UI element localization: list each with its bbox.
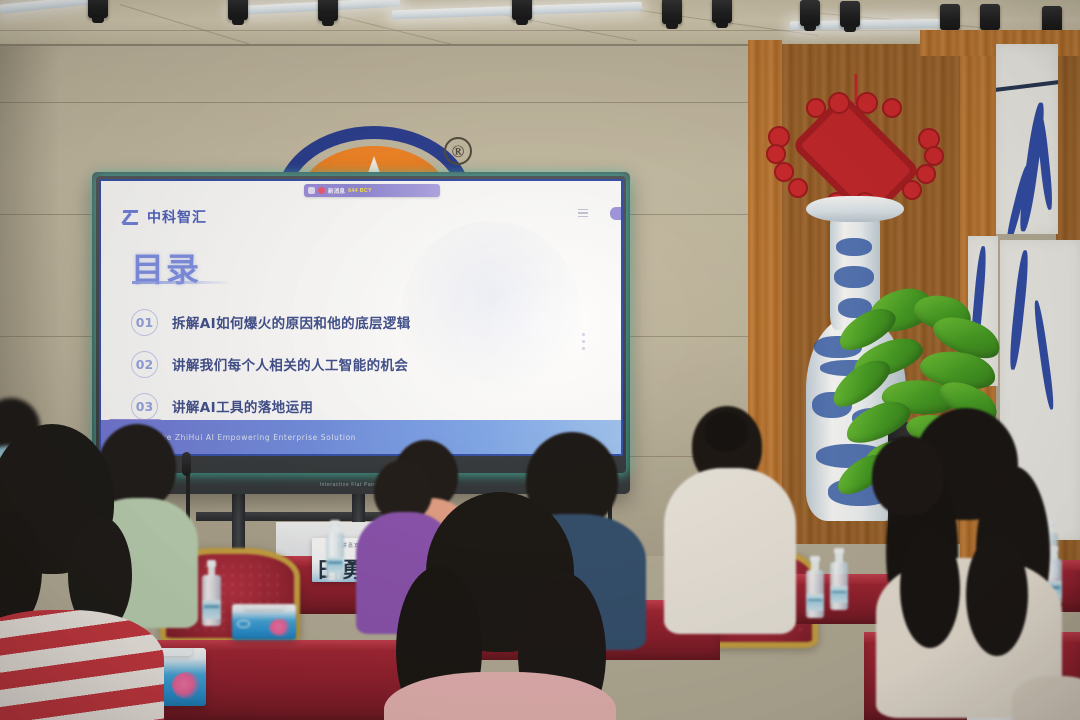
more-dots-icon[interactable] [582,333,585,350]
fluorescent-light [230,0,400,15]
water-bottle [202,560,221,626]
toc-number: 02 [131,351,158,378]
track-spotlight [318,0,338,21]
track-spotlight [512,0,532,20]
calligraphy-art-panel [996,44,1058,234]
attendee-floral-back [664,406,792,626]
slide-brand-logo: 中科智汇 [123,207,207,227]
attendee-center-front [390,492,610,720]
track-spotlight [800,0,820,26]
toc-number: 01 [131,309,158,336]
tissue-box [232,604,296,640]
fluorescent-light [0,0,90,14]
track-spotlight [1042,6,1062,32]
track-spotlight [840,1,860,27]
track-spotlight [980,4,1000,30]
conference-room-photo: ® [0,0,1080,720]
slide-brand-name: 中科智汇 [147,207,207,227]
track-spotlight [662,0,682,24]
bell-icon [308,187,315,194]
display-stand-column [232,494,245,556]
notification-text-left: 新消息 [328,187,345,195]
water-bottle [830,548,848,610]
presentation-slide[interactable]: 中科智汇 目录 01 拆解AI如何爆火的原因和他的底层逻辑 [101,181,621,454]
track-spotlight [940,4,960,30]
toc-label: 拆解AI如何爆火的原因和他的底层逻辑 [172,312,411,332]
track-spotlight [228,0,248,20]
title-underline [132,281,232,284]
toc-number: 03 [131,393,158,420]
track-spotlight [88,0,108,18]
z-logo-icon [123,209,140,226]
attendee-front-left [0,424,152,720]
water-bottle [806,556,824,618]
toc-label: 讲解AI工具的落地运用 [172,396,313,416]
hamburger-menu-icon[interactable] [578,209,588,217]
alert-dot-icon [318,187,325,194]
track-spotlight [712,0,732,23]
edge-tab-icon[interactable] [610,207,621,220]
notification-banner[interactable]: 新消息 644 BCY [304,184,440,197]
display-screen[interactable]: 中科智汇 目录 01 拆解AI如何爆火的原因和他的底层逻辑 [99,179,623,456]
toc-item[interactable]: 01 拆解AI如何爆火的原因和他的底层逻辑 [131,301,561,343]
toc-item[interactable]: 02 讲解我们每个人相关的人工智能的机会 [131,343,561,385]
registered-trademark-icon: ® [444,137,472,165]
attendee-right-of-blue [862,436,952,566]
notification-text-right: 644 BCY [348,188,372,194]
attendee-bottom-right [1012,676,1080,720]
toc-label: 讲解我们每个人相关的人工智能的机会 [172,354,408,374]
water-bottle [326,520,344,580]
